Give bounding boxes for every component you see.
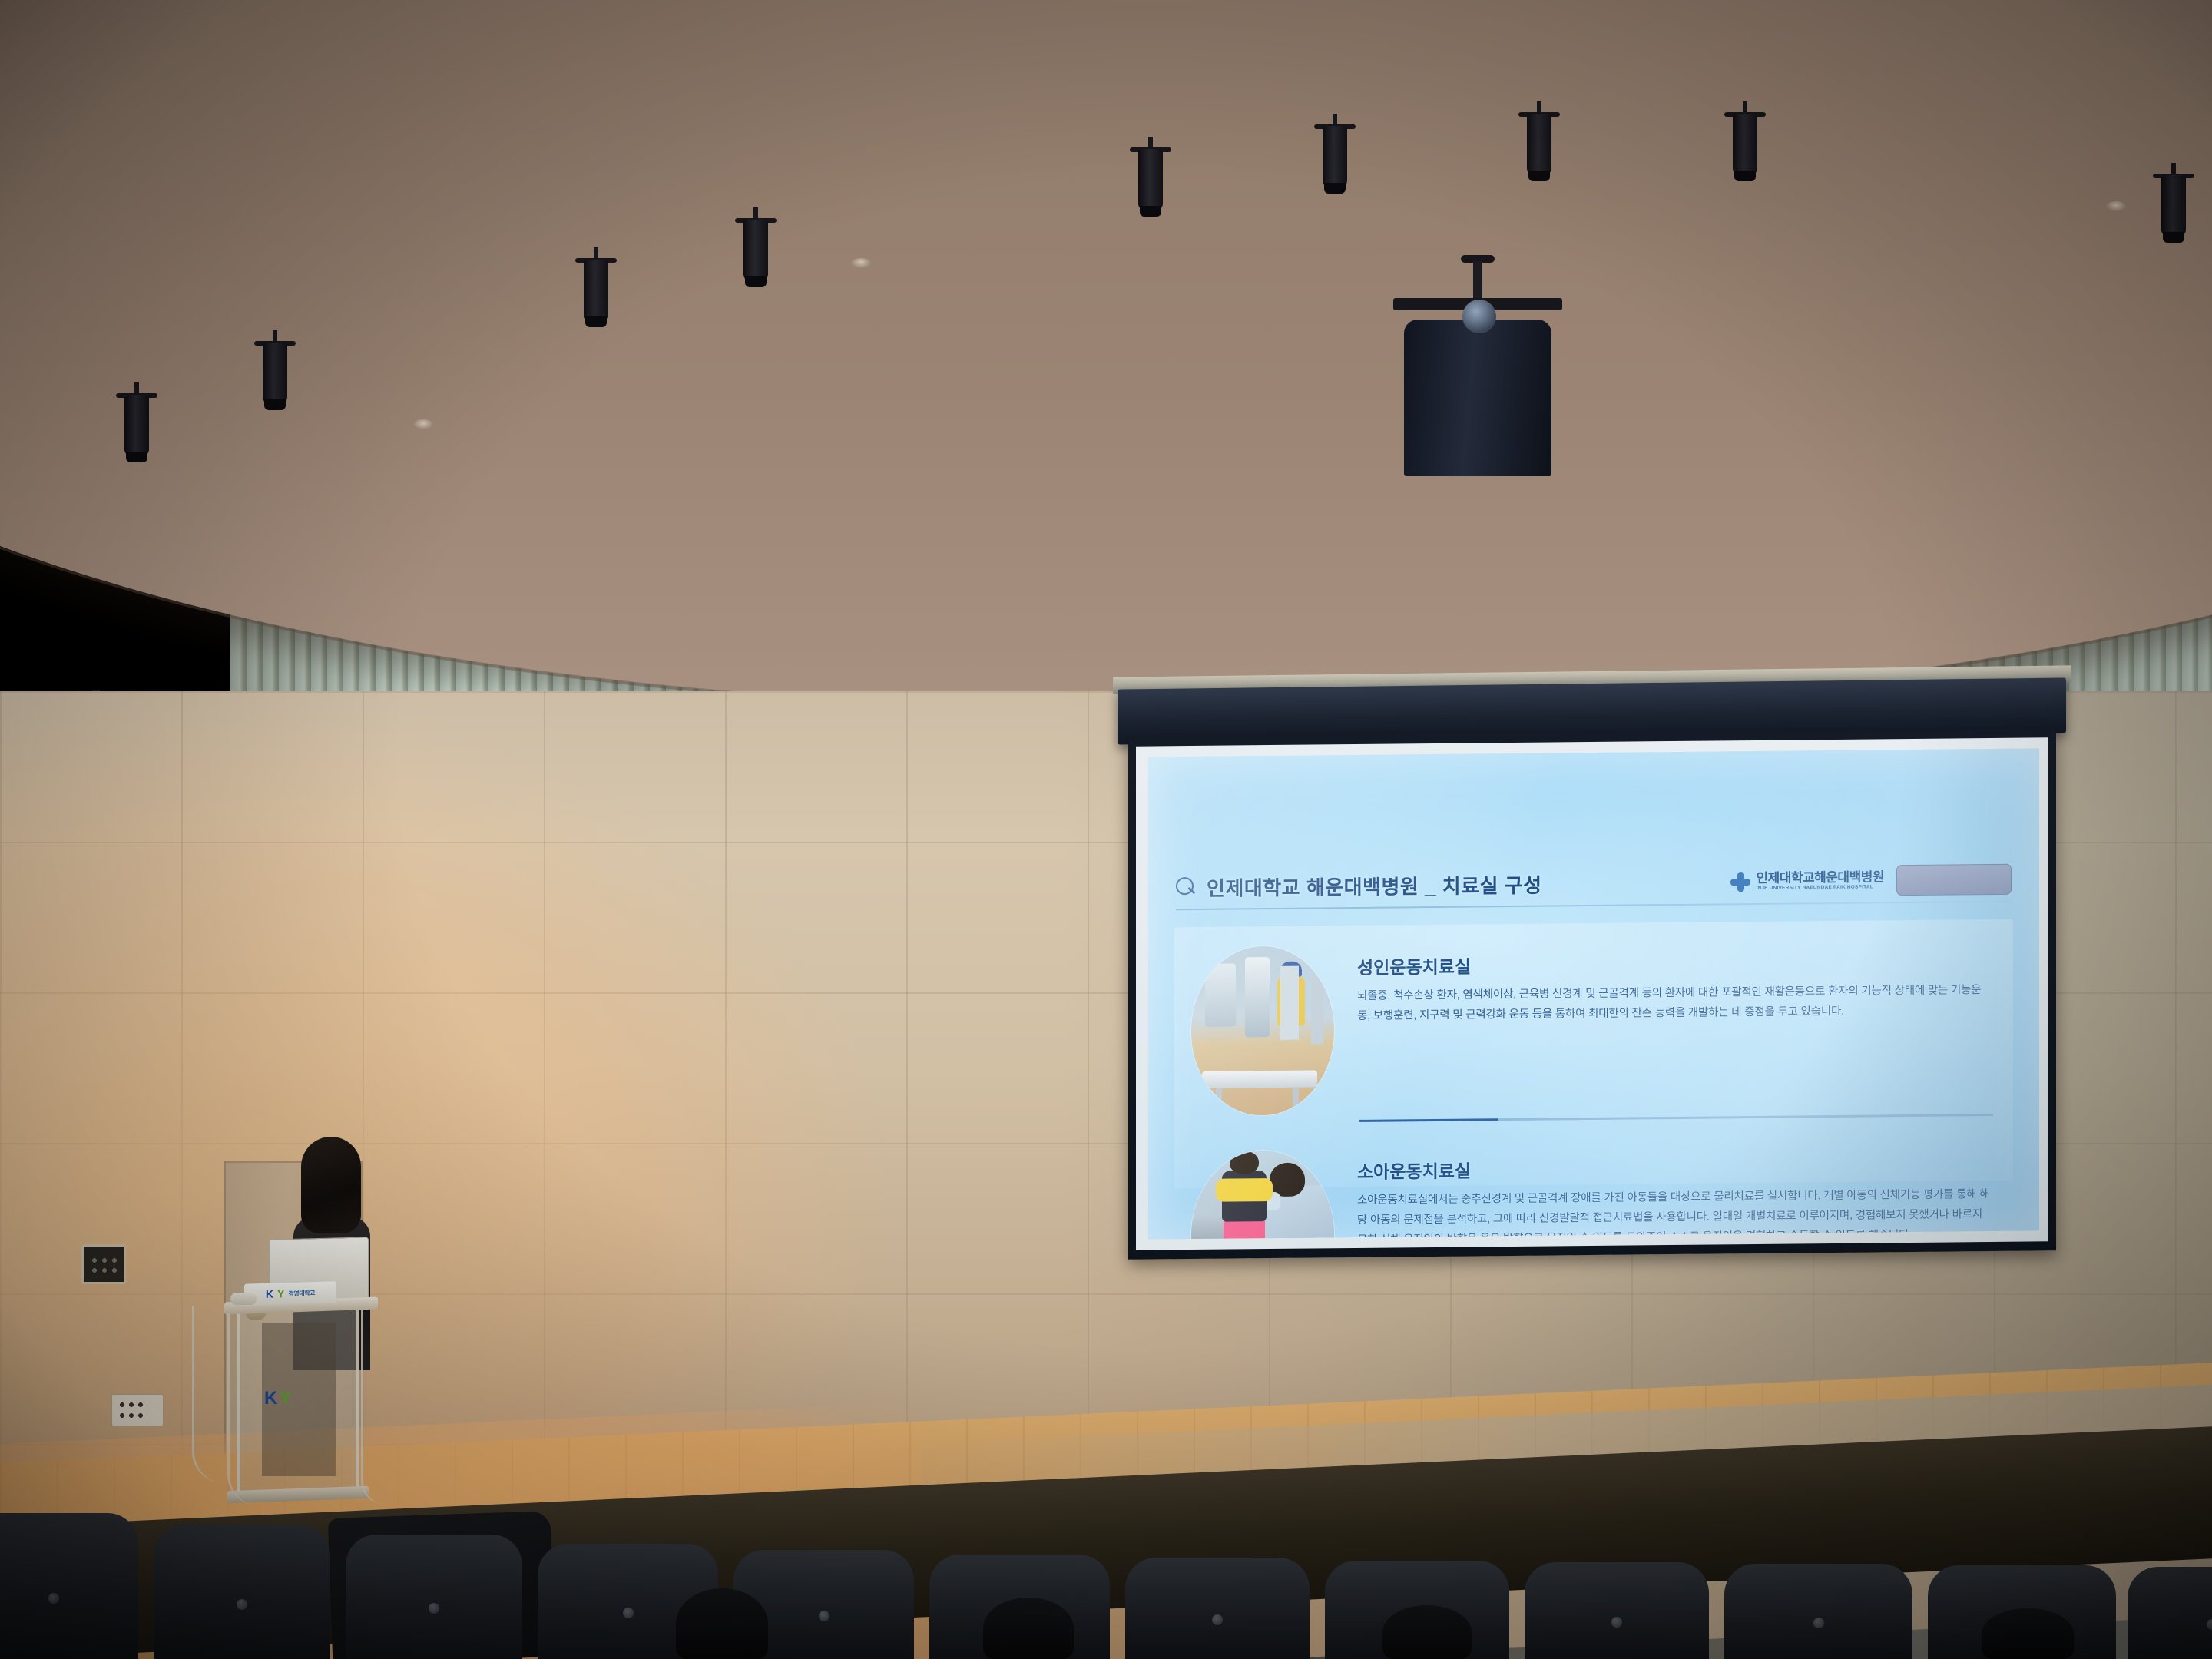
pediatric-block-heading: 소아운동치료실 [1357,1151,1993,1184]
adult-block-body: 뇌졸중, 척수손상 환자, 염색체이상, 근육병 신경계 및 근골격계 등의 환… [1357,981,1993,1027]
podium-front-logo: K Y [264,1386,303,1412]
stage-spot-light [1730,101,1760,175]
podium-nameplate: K Y 경영대학교 [244,1281,336,1305]
ceiling-downlight [2106,201,2126,211]
pediatric-text-column: 소아운동치료실 소아운동치료실에서는 중추신경계 및 근골격계 장애를 가진 아… [1357,1144,1993,1240]
nameplate-k: K [266,1289,273,1300]
audience-head-silhouette [983,1598,1074,1659]
slide-header-badge [1896,864,2012,896]
stage-spot-light [740,207,771,281]
stage-spot-light [260,330,290,404]
stage-spot-light [1320,114,1350,187]
hospital-logo: 인제대학교해운대백병원 INJE UNIVERSITY HAEUNDAE PAI… [1730,870,1884,892]
audience-seat [346,1535,522,1659]
wall-warm-light [0,691,883,1505]
slide-header: 인제대학교 해운대백병원 _ 치료실 구성 인제대학교해운대백병원 INJE U… [1176,858,2012,909]
wall-power-outlet[interactable] [111,1394,164,1426]
hospital-name-english: INJE UNIVERSITY HAEUNDAE PAIK HOSPITAL [1756,886,1884,892]
medical-cross-icon [1730,872,1750,892]
adult-block-underline [1359,1114,1993,1122]
stage-spot-light [121,382,152,456]
stage-spot-light [581,247,611,321]
adult-text-column: 성인운동치료실 뇌졸중, 척수손상 환자, 염색체이상, 근육병 신경계 및 근… [1357,939,1993,1114]
audience-seat [1125,1558,1310,1659]
pediatric-block-body: 소아운동치료실에서는 중추신경계 및 근골격계 장애를 가진 아동들을 대상으로… [1357,1185,1993,1240]
ceiling-mounted-speaker [1393,261,1562,476]
ceiling-downlight [851,258,871,268]
audience-seat [2128,1567,2212,1659]
hospital-name-korean: 인제대학교해운대백병원 [1756,871,1884,886]
slide-block-adult: 성인운동치료실 뇌졸중, 척수손상 환자, 염색체이상, 근육병 신경계 및 근… [1191,939,1993,1116]
podium-logo-k: K [264,1389,277,1408]
auditorium-scene: 인제대학교 해운대백병원 _ 치료실 구성 인제대학교해운대백병원 INJE U… [0,0,2212,1659]
hospital-logo-text: 인제대학교해운대백병원 INJE UNIVERSITY HAEUNDAE PAI… [1756,871,1884,892]
adult-therapy-photo [1191,945,1334,1116]
audience-head-silhouette [676,1588,768,1659]
adult-block-heading: 성인운동치료실 [1357,947,1993,979]
podium-cable [227,1313,260,1505]
audience-head-silhouette [1382,1605,1472,1659]
stage-spot-light [1524,101,1555,175]
podium-cable [361,1310,384,1504]
projected-slide: 인제대학교 해운대백병원 _ 치료실 구성 인제대학교해운대백병원 INJE U… [1148,748,2039,1239]
audience-seat [154,1525,330,1659]
audience-seat [0,1513,138,1659]
slide-title: 인제대학교 해운대백병원 _ 치료실 구성 [1207,869,1542,901]
stage-spot-light [1135,137,1166,210]
ceiling-arc-rim [0,0,2212,710]
ceiling-downlight [413,419,433,429]
pediatric-therapy-photo [1191,1150,1334,1239]
slide-content-card: 성인운동치료실 뇌졸중, 척수손상 환자, 염색체이상, 근육병 신경계 및 근… [1174,919,2013,1188]
audience-seat [1525,1562,1709,1659]
stage-spot-light [2158,163,2189,237]
nameplate-y: Y [277,1288,284,1299]
audience-head-silhouette [1982,1608,2074,1659]
slide-block-pediatric: 소아운동치료실 소아운동치료실에서는 중추신경계 및 근골격계 장애를 가진 아… [1191,1144,1993,1240]
projection-screen-assembly: 인제대학교 해운대백병원 _ 치료실 구성 인제대학교해운대백병원 INJE U… [1118,684,2066,1260]
wall-control-panel[interactable] [81,1244,126,1284]
magnifier-icon [1176,877,1196,897]
audience-seat [1724,1564,1912,1659]
slide-header-right: 인제대학교해운대백병원 INJE UNIVERSITY HAEUNDAE PAI… [1730,864,2012,898]
podium-logo-y: Y [279,1389,291,1408]
microphone-base [230,1293,257,1305]
nameplate-korean: 경영대학교 [288,1289,315,1298]
